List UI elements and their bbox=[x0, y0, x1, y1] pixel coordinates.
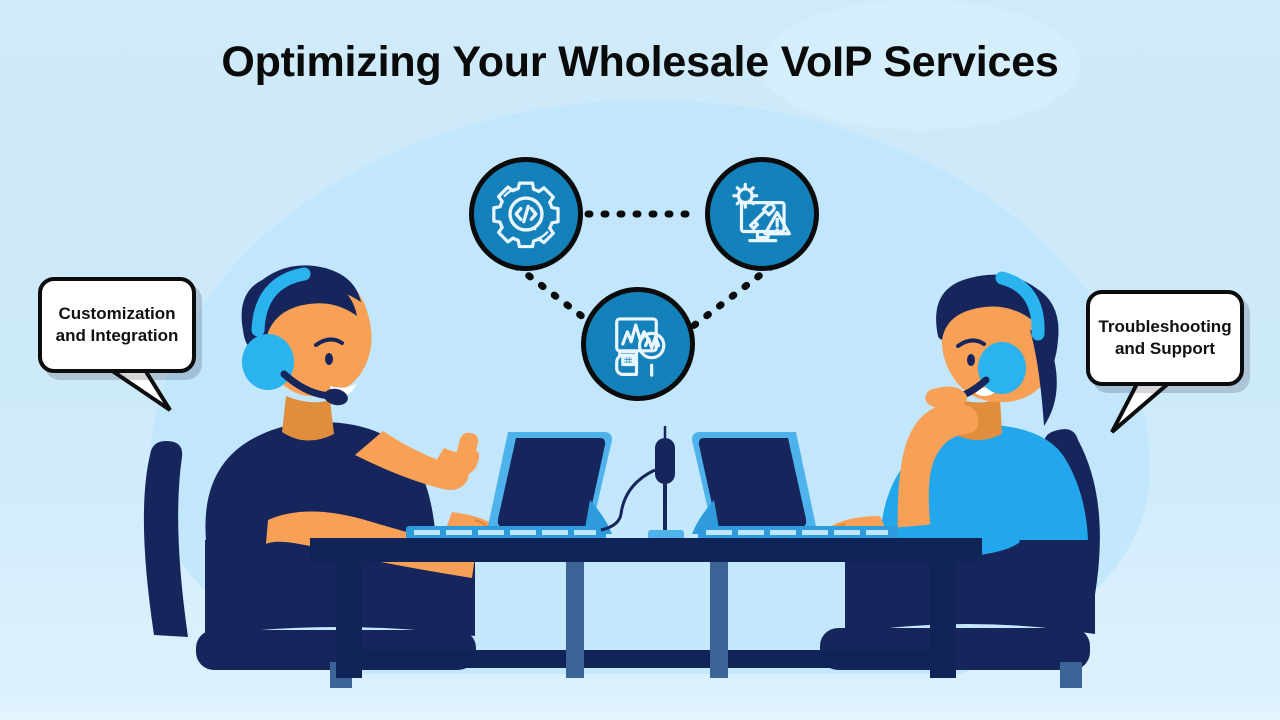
bubble-right-line1: Troubleshooting bbox=[1098, 316, 1231, 338]
bubble-right-line2: and Support bbox=[1115, 338, 1215, 360]
bubble-left-line2: and Integration bbox=[56, 325, 179, 347]
bubble-left-line1: Customization bbox=[58, 303, 175, 325]
slide-canvas: Optimizing Your Wholesale VoIP Services bbox=[0, 0, 1280, 720]
speech-bubble-customization[interactable]: Customization and Integration bbox=[38, 277, 196, 373]
speech-bubble-troubleshooting[interactable]: Troubleshooting and Support bbox=[1086, 290, 1244, 386]
bubble-right-tail bbox=[1112, 378, 1170, 432]
